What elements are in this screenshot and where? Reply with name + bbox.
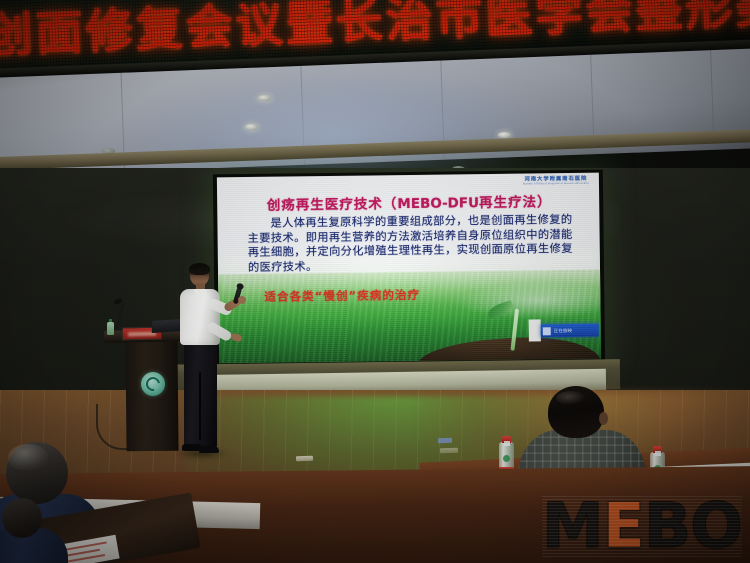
slide-title-en: MEBO-DFU xyxy=(397,195,479,212)
mebo-watermark: MEBO xyxy=(542,495,742,557)
presentation-slide: 河南大学附属南石医院 Nanshi Affiliated Hospital of… xyxy=(217,173,601,364)
slideshow-chip-icon xyxy=(543,327,551,335)
attendee-center-hair-sheen xyxy=(556,391,586,405)
floor-marker xyxy=(296,456,313,462)
presenter xyxy=(168,264,228,454)
watermark-suffix: BO xyxy=(644,489,742,562)
hospital-logo-en: Nanshi Affiliated Hospital of Henan Univ… xyxy=(523,183,589,187)
slideshow-chip-label: 正在放映 xyxy=(554,328,572,334)
slide-highlight-text: 适合各类“慢创”疾病的治疗 xyxy=(264,287,420,305)
slide-title-cn-tail: 再生疗法） xyxy=(479,194,552,211)
podium-emblem-icon xyxy=(141,372,165,396)
downlight-icon xyxy=(258,95,271,101)
watermark-prefix: M xyxy=(542,489,603,562)
hospital-logo: 河南大学附属南石医院 Nanshi Affiliated Hospital of… xyxy=(523,177,589,187)
attendee-left-gray-hair xyxy=(8,444,48,470)
projection-screen: 河南大学附属南石医院 Nanshi Affiliated Hospital of… xyxy=(213,170,605,369)
slide-white-box xyxy=(529,319,541,341)
downlight-icon xyxy=(245,124,258,130)
conference-hall-photo: 创面修复会议暨长治市医学会整形美容专业委 河南大学附属南石医院 Nanshi A… xyxy=(0,0,750,563)
presenter-shoe xyxy=(199,446,219,453)
slide-title-cn-head: 创疡再生医疗技术（ xyxy=(267,196,398,214)
podium-water-bottle xyxy=(107,322,114,335)
presenter-hand xyxy=(238,296,246,304)
floor-marker xyxy=(440,448,458,454)
floor-marker xyxy=(438,438,452,443)
ceiling-glow xyxy=(118,61,542,186)
attendee-far-left-head xyxy=(2,498,42,538)
attendee-center-ear xyxy=(599,412,608,425)
watermark-highlight: E xyxy=(603,489,644,562)
presenter-hair xyxy=(189,263,210,275)
attendee-far-left xyxy=(0,498,64,563)
slide-body-text: 是人体再生复原科学的重要组成部分，也是创面再生修复的主要技术。即用再生营养的方法… xyxy=(247,213,573,276)
slide-title: 创疡再生医疗技术（MEBO-DFU再生疗法） xyxy=(233,190,585,214)
presenter-leg-split xyxy=(199,372,201,440)
slideshow-taskbar-chip[interactable]: 正在放映 xyxy=(541,324,599,338)
downlight-icon xyxy=(498,132,511,138)
